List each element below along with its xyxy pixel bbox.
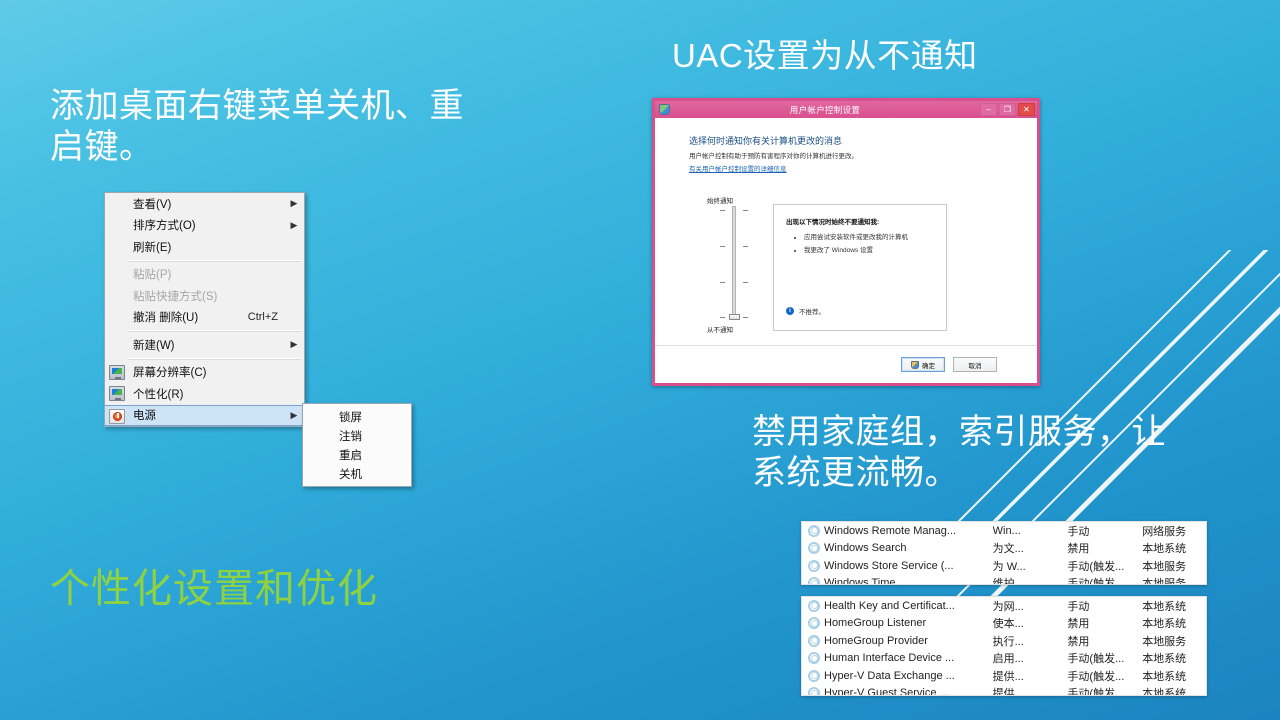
power-submenu-item[interactable]: 关机 [303, 464, 411, 483]
service-startup-type: 禁用 [1067, 540, 1142, 556]
uac-level-slider[interactable] [727, 206, 741, 320]
slider-tick [743, 317, 748, 318]
service-row[interactable]: Windows Search为文...禁用本地系统 [802, 540, 1206, 558]
window-controls[interactable]: – ❐ ✕ [980, 103, 1037, 116]
slider-top-label: 始终通知 [707, 195, 733, 205]
context-menu-item-label: 撤消 删除(U) [133, 309, 248, 325]
service-startup-type: 禁用 [1067, 615, 1142, 631]
service-row[interactable]: Hyper-V Guest Service ...提供...手动(触发...本地… [802, 685, 1206, 697]
gear-icon [808, 542, 820, 554]
service-row[interactable]: Windows Remote Manag...Win...手动网络服务 [802, 522, 1206, 540]
services-list-homegroup[interactable]: Health Key and Certificat...为网...手动本地系统H… [801, 596, 1207, 696]
service-logon-as: 本地系统 [1142, 685, 1206, 696]
power-submenu-item[interactable]: 重启 [303, 445, 411, 464]
service-logon-as: 本地服务 [1142, 633, 1206, 649]
context-menu-item-label: 排序方式(O) [133, 217, 288, 233]
chevron-right-icon: ▶ [288, 220, 304, 231]
power-submenu-item[interactable]: 锁屏 [303, 407, 411, 426]
slider-tick [743, 210, 748, 211]
service-row[interactable]: HomeGroup Listener使本...禁用本地系统 [802, 615, 1206, 633]
gear-icon [808, 600, 820, 612]
service-description: 提供... [993, 685, 1068, 696]
context-menu-item-label: 电源 [133, 407, 288, 423]
service-startup-type: 手动(触发... [1067, 575, 1142, 585]
service-row[interactable]: Health Key and Certificat...为网...手动本地系统 [802, 597, 1206, 615]
heading-desktop-context-menu: 添加桌面右键菜单关机、重 启键。 [50, 86, 520, 169]
shield-icon [911, 361, 919, 369]
context-menu-item-label: 新建(W) [133, 337, 288, 353]
heading-uac: UAC设置为从不通知 [672, 36, 978, 76]
service-row[interactable]: Hyper-V Data Exchange ...提供...手动(触发...本地… [802, 667, 1206, 685]
service-name: Hyper-V Guest Service ... [824, 687, 993, 696]
uac-help-link[interactable]: 有关用户帐户控制设置的详细信息 [689, 163, 787, 173]
context-menu-item[interactable]: 新建(W)▶ [105, 334, 304, 356]
service-startup-type: 手动 [1067, 523, 1142, 539]
service-logon-as: 本地系统 [1142, 598, 1206, 614]
context-menu-item-label: 粘贴(P) [133, 266, 288, 282]
chevron-right-icon: ▶ [288, 198, 304, 209]
gear-icon [808, 560, 820, 572]
service-startup-type: 手动(触发... [1067, 650, 1142, 666]
slider-tick [720, 210, 725, 211]
service-row[interactable]: HomeGroup Provider执行...禁用本地服务 [802, 632, 1206, 650]
uac-bullet-item: 我更改了 Windows 设置 [804, 245, 908, 258]
context-menu-item[interactable]: 查看(V)▶ [105, 193, 304, 215]
slider-tick [743, 282, 748, 283]
context-menu-item-label: 粘贴快捷方式(S) [133, 288, 288, 304]
slider-tick [720, 246, 725, 247]
ok-button-label: 确定 [922, 360, 935, 370]
service-name: Windows Remote Manag... [824, 525, 993, 537]
service-row[interactable]: Windows Time维护...手动(触发...本地服务 [802, 575, 1206, 586]
context-menu-separator [105, 358, 302, 360]
service-logon-as: 本地系统 [1142, 668, 1206, 684]
monitor-icon [109, 365, 125, 380]
gear-icon [808, 670, 820, 682]
slider-bottom-label: 从不通知 [707, 324, 733, 334]
service-startup-type: 手动(触发... [1067, 558, 1142, 574]
service-logon-as: 网络服务 [1142, 523, 1206, 539]
service-logon-as: 本地服务 [1142, 575, 1206, 585]
service-name: Human Interface Device ... [824, 652, 993, 664]
power-submenu-item[interactable]: 注销 [303, 426, 411, 445]
power-submenu-item-label: 锁屏 [339, 409, 411, 425]
service-description: 为网... [993, 598, 1068, 614]
service-logon-as: 本地服务 [1142, 558, 1206, 574]
gear-icon [808, 617, 820, 629]
context-menu-item[interactable]: 排序方式(O)▶ [105, 215, 304, 237]
desktop-context-menu[interactable]: 查看(V)▶排序方式(O)▶刷新(E)粘贴(P)粘贴快捷方式(S)撤消 删除(U… [104, 192, 305, 427]
section-title-personalization: 个性化设置和优化 [50, 556, 378, 614]
gear-icon [808, 687, 820, 696]
info-icon: i [786, 307, 794, 315]
context-menu-item[interactable]: 电源▶ [105, 405, 304, 427]
power-submenu[interactable]: 锁屏注销重启关机 [302, 403, 412, 487]
uac-body: 选择何时通知你有关计算机更改的消息 用户帐户控制有助于预防有害程序对你的计算机进… [655, 118, 1037, 383]
context-menu-item[interactable]: 撤消 删除(U)Ctrl+Z [105, 307, 304, 329]
presentation-slide: 添加桌面右键菜单关机、重 启键。 UAC设置为从不通知 禁用家庭组，索引服务，让… [0, 0, 1280, 720]
uac-recommendation-note: i 不推荐。 [786, 306, 825, 316]
uac-description: 用户帐户控制有助于预防有害程序对你的计算机进行更改。 [689, 152, 858, 162]
slider-track [732, 206, 736, 320]
slider-tick [743, 246, 748, 247]
service-logon-as: 本地系统 [1142, 615, 1206, 631]
slider-thumb[interactable] [729, 314, 740, 320]
service-startup-type: 手动(触发... [1067, 685, 1142, 696]
uac-level-description-panel: 出现以下情况时始终不要通知我: 应用尝试安装软件或更改我的计算机我更改了 Win… [773, 204, 947, 331]
context-menu-separator [105, 330, 302, 332]
chevron-right-icon: ▶ [288, 339, 304, 350]
uac-panel-bullets: 应用尝试安装软件或更改我的计算机我更改了 Windows 设置 [786, 232, 908, 257]
power-submenu-item-label: 重启 [339, 447, 411, 463]
context-menu-item[interactable]: 屏幕分辨率(C) [105, 362, 304, 384]
service-name: Health Key and Certificat... [824, 600, 993, 612]
maximize-icon[interactable]: ❐ [999, 103, 1016, 116]
context-menu-item-label: 刷新(E) [133, 239, 288, 255]
service-row[interactable]: Human Interface Device ...启用...手动(触发...本… [802, 650, 1206, 668]
service-row[interactable]: Windows Store Service (...为 W...手动(触发...… [802, 557, 1206, 575]
service-name: HomeGroup Provider [824, 635, 993, 647]
uac-panel-heading: 出现以下情况时始终不要通知我: [786, 216, 879, 226]
context-menu-separator [105, 260, 302, 262]
close-icon[interactable]: ✕ [1018, 103, 1035, 116]
uac-bullet-item: 应用尝试安装软件或更改我的计算机 [804, 232, 908, 245]
heading-services: 禁用家庭组，索引服务，让 系统更流畅。 [752, 412, 1222, 495]
cancel-button-label: 取消 [969, 360, 982, 370]
gear-icon [808, 652, 820, 664]
service-name: Windows Search [824, 542, 993, 554]
context-menu-item-label: 个性化(R) [133, 386, 288, 402]
power-submenu-item-label: 关机 [339, 466, 411, 482]
cancel-button[interactable]: 取消 [953, 357, 997, 372]
service-description: 使本... [993, 615, 1068, 631]
uac-settings-window[interactable]: 用户帐户控制设置 – ❐ ✕ 选择何时通知你有关计算机更改的消息 用户帐户控制有… [652, 98, 1040, 386]
uac-note-text: 不推荐。 [799, 306, 825, 316]
service-description: 提供... [993, 668, 1068, 684]
uac-window-title: 用户帐户控制设置 [670, 104, 980, 116]
context-menu-item-label: 查看(V) [133, 196, 288, 212]
service-description: 执行... [993, 633, 1068, 649]
context-menu-shortcut: Ctrl+Z [248, 311, 288, 323]
service-description: 维护... [993, 575, 1068, 585]
service-name: Windows Store Service (... [824, 560, 993, 572]
service-name: Windows Time [824, 577, 993, 585]
slider-tick [720, 282, 725, 283]
service-description: 为文... [993, 540, 1068, 556]
monitor-icon [109, 386, 125, 401]
service-description: Win... [993, 525, 1068, 537]
ok-button[interactable]: 确定 [901, 357, 945, 372]
services-list-windows[interactable]: Windows Remote Manag...Win...手动网络服务Windo… [801, 521, 1207, 585]
uac-heading: 选择何时通知你有关计算机更改的消息 [689, 134, 842, 147]
context-menu-item[interactable]: 个性化(R) [105, 383, 304, 405]
gear-icon [808, 635, 820, 647]
minimize-icon[interactable]: – [980, 103, 997, 116]
gear-icon [808, 577, 820, 585]
service-logon-as: 本地系统 [1142, 540, 1206, 556]
context-menu-item: 粘贴快捷方式(S) [105, 285, 304, 307]
uac-title-bar: 用户帐户控制设置 – ❐ ✕ [655, 101, 1037, 118]
uac-footer: 确定 取消 [655, 345, 1037, 383]
service-name: HomeGroup Listener [824, 617, 993, 629]
service-startup-type: 手动 [1067, 598, 1142, 614]
slider-tick [720, 317, 725, 318]
service-description: 为 W... [993, 558, 1068, 574]
shield-icon [659, 104, 670, 115]
service-startup-type: 手动(触发... [1067, 668, 1142, 684]
service-logon-as: 本地系统 [1142, 650, 1206, 666]
context-menu-item-label: 屏幕分辨率(C) [133, 364, 288, 380]
gear-icon [808, 525, 820, 537]
service-startup-type: 禁用 [1067, 633, 1142, 649]
power-icon [109, 409, 125, 424]
service-name: Hyper-V Data Exchange ... [824, 670, 993, 682]
power-submenu-item-label: 注销 [339, 428, 411, 444]
context-menu-item[interactable]: 刷新(E) [105, 236, 304, 258]
service-description: 启用... [993, 650, 1068, 666]
context-menu-item: 粘贴(P) [105, 264, 304, 286]
